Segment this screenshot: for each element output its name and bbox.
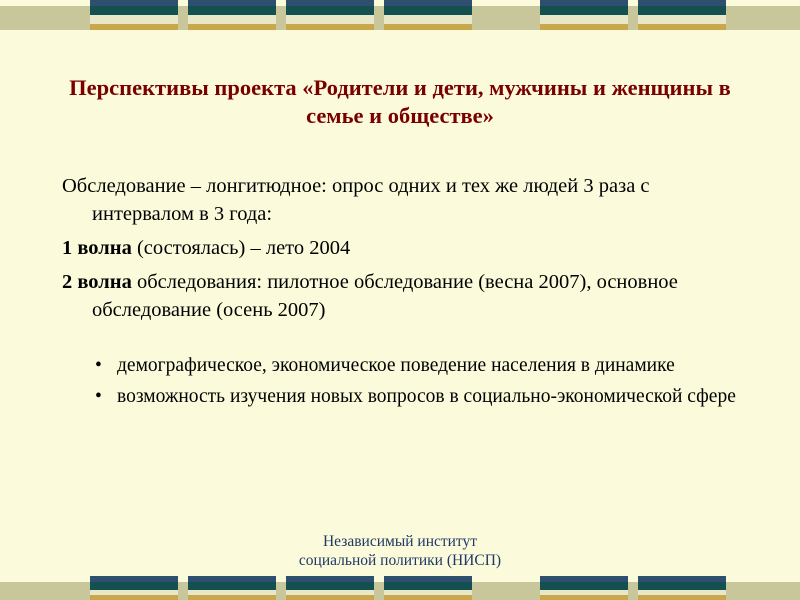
band-block: [540, 0, 628, 42]
band-block: [472, 576, 540, 600]
paragraph-text: Обследование – лонгитюдное: опрос одних …: [62, 175, 650, 225]
slide-body: Обследование – лонгитюдное: опрос одних …: [62, 172, 752, 414]
list-item-label: возможность изучения новых вопросов в со…: [117, 386, 736, 407]
bullet-list: • демографическое, экономическое поведен…: [62, 352, 752, 410]
band-block: [638, 576, 726, 600]
bottom-decoration-band: [0, 576, 800, 600]
bullet-dot-icon: •: [95, 352, 102, 379]
band-block: [276, 0, 286, 42]
band-block: [18, 0, 90, 42]
bullet-dot-icon: •: [95, 383, 102, 410]
band-block: [90, 576, 178, 600]
list-item: • демографическое, экономическое поведен…: [62, 352, 752, 379]
band-block: [726, 576, 800, 600]
list-item-label: демографическое, экономическое поведение…: [117, 355, 675, 376]
list-item: • возможность изучения новых вопросов в …: [62, 383, 752, 410]
band-block: [628, 576, 638, 600]
band-block: [178, 576, 188, 600]
wave-2-text: обследования: пилотное обследование (вес…: [92, 271, 678, 321]
band-block: [286, 0, 374, 42]
band-block: [384, 576, 472, 600]
band-block: [726, 0, 800, 42]
paragraph-wave-1: 1 волна (состоялась) – лето 2004: [62, 234, 752, 262]
band-block: [178, 0, 188, 42]
wave-1-label: 1 волна: [62, 237, 132, 259]
band-block: [0, 576, 18, 600]
footer-line-1: Независимый институт: [0, 532, 800, 551]
band-block: [276, 576, 286, 600]
paragraph-wave-2: 2 волна обследования: пилотное обследова…: [62, 268, 752, 324]
band-block: [286, 576, 374, 600]
band-block: [384, 0, 472, 42]
footer-line-2: социальной политики (НИСП): [0, 551, 800, 570]
wave-2-label: 2 волна: [62, 271, 132, 293]
band-block: [374, 576, 384, 600]
band-block: [540, 576, 628, 600]
wave-1-text: (состоялась) – лето 2004: [132, 237, 350, 259]
band-block: [90, 0, 178, 42]
page-title: Перспективы проекта «Родители и дети, му…: [60, 74, 740, 130]
band-block: [0, 0, 18, 42]
top-decoration-band: [0, 0, 800, 42]
paragraph-survey-description: Обследование – лонгитюдное: опрос одних …: [62, 172, 752, 228]
band-block: [18, 576, 90, 600]
band-block: [628, 0, 638, 42]
band-block: [472, 0, 540, 42]
band-block: [638, 0, 726, 42]
band-block: [188, 576, 276, 600]
band-block: [188, 0, 276, 42]
slide-footer: Независимый институт социальной политики…: [0, 532, 800, 570]
slide-content: Перспективы проекта «Родители и дети, му…: [0, 42, 800, 576]
band-block: [374, 0, 384, 42]
spacer: [62, 330, 752, 352]
